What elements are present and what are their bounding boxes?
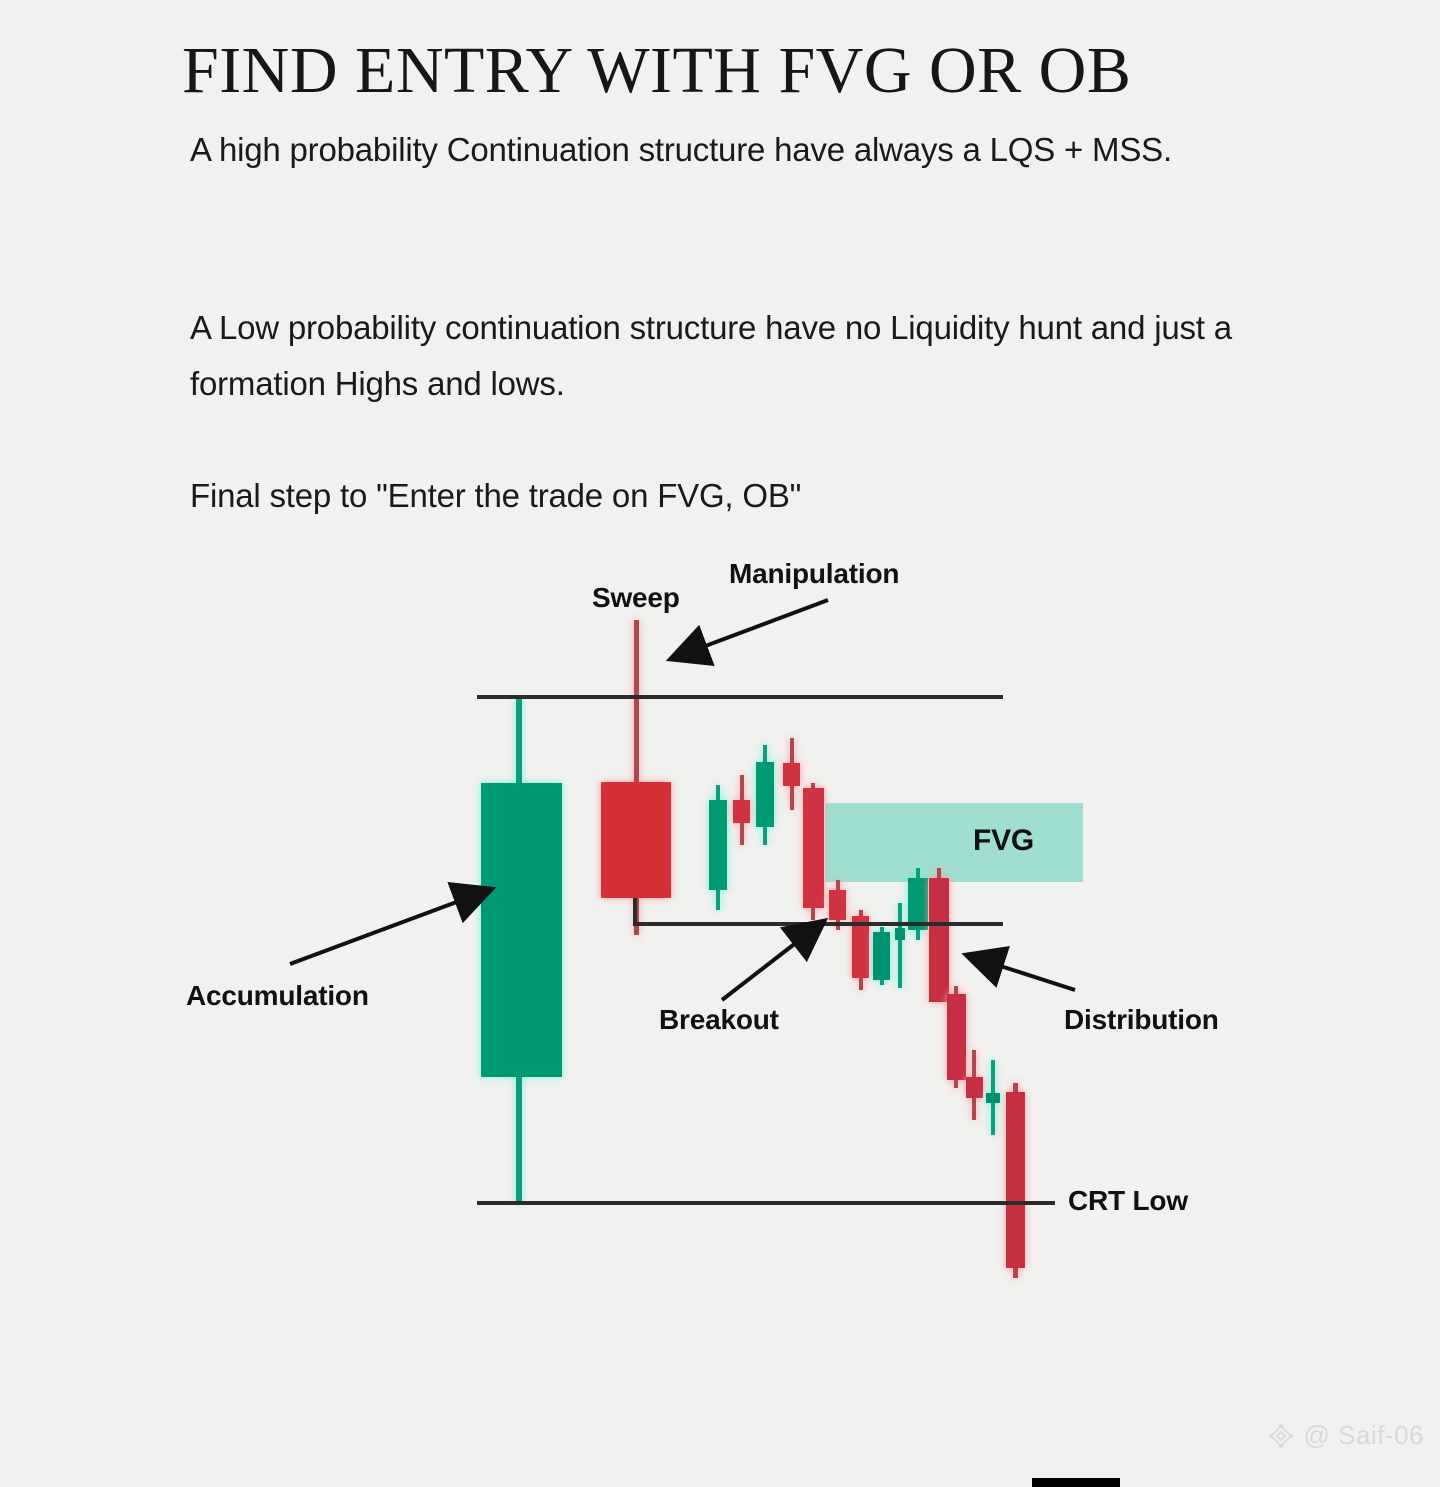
candle-4 [733, 775, 750, 845]
label-distribution: Distribution [1064, 1004, 1219, 1036]
bottom-black-bar [1032, 1478, 1120, 1487]
candle-11 [895, 903, 905, 988]
candle-distribution [929, 868, 949, 1002]
label-manipulation: Manipulation [729, 558, 899, 590]
candle-15 [966, 1050, 983, 1120]
candle-sweep [601, 620, 671, 935]
candle-7 [803, 783, 824, 920]
candle-accumulation [481, 697, 562, 1204]
candle-6 [783, 738, 800, 810]
candlestick-chart [0, 0, 1440, 1487]
candle-5 [756, 745, 774, 845]
candle-3 [709, 785, 727, 910]
candle-12 [908, 868, 928, 940]
fvg-zone [825, 803, 1083, 882]
watermark-handle: @ Saif-06 [1304, 1420, 1425, 1451]
label-sweep: Sweep [592, 582, 680, 614]
accumulation-arrow [290, 897, 470, 964]
candle-16 [986, 1060, 1000, 1135]
annotation-arrows [290, 600, 1075, 1000]
label-crt-low: CRT Low [1068, 1185, 1188, 1217]
watermark: @ Saif-06 [1266, 1420, 1425, 1451]
infographic-page: FIND ENTRY WITH FVG OR OB A high probabi… [0, 0, 1440, 1487]
candles-group [481, 620, 1025, 1278]
candle-crt-low [1006, 1083, 1025, 1278]
breakout-arrow [722, 935, 806, 1000]
label-accumulation: Accumulation [186, 980, 369, 1012]
label-breakout: Breakout [659, 1004, 779, 1036]
diamond-network-icon [1266, 1422, 1296, 1450]
candle-10 [873, 927, 890, 985]
distribution-arrow [988, 962, 1075, 990]
manipulation-arrow [692, 600, 828, 651]
candle-14 [947, 986, 966, 1088]
label-fvg: FVG [973, 824, 1034, 858]
